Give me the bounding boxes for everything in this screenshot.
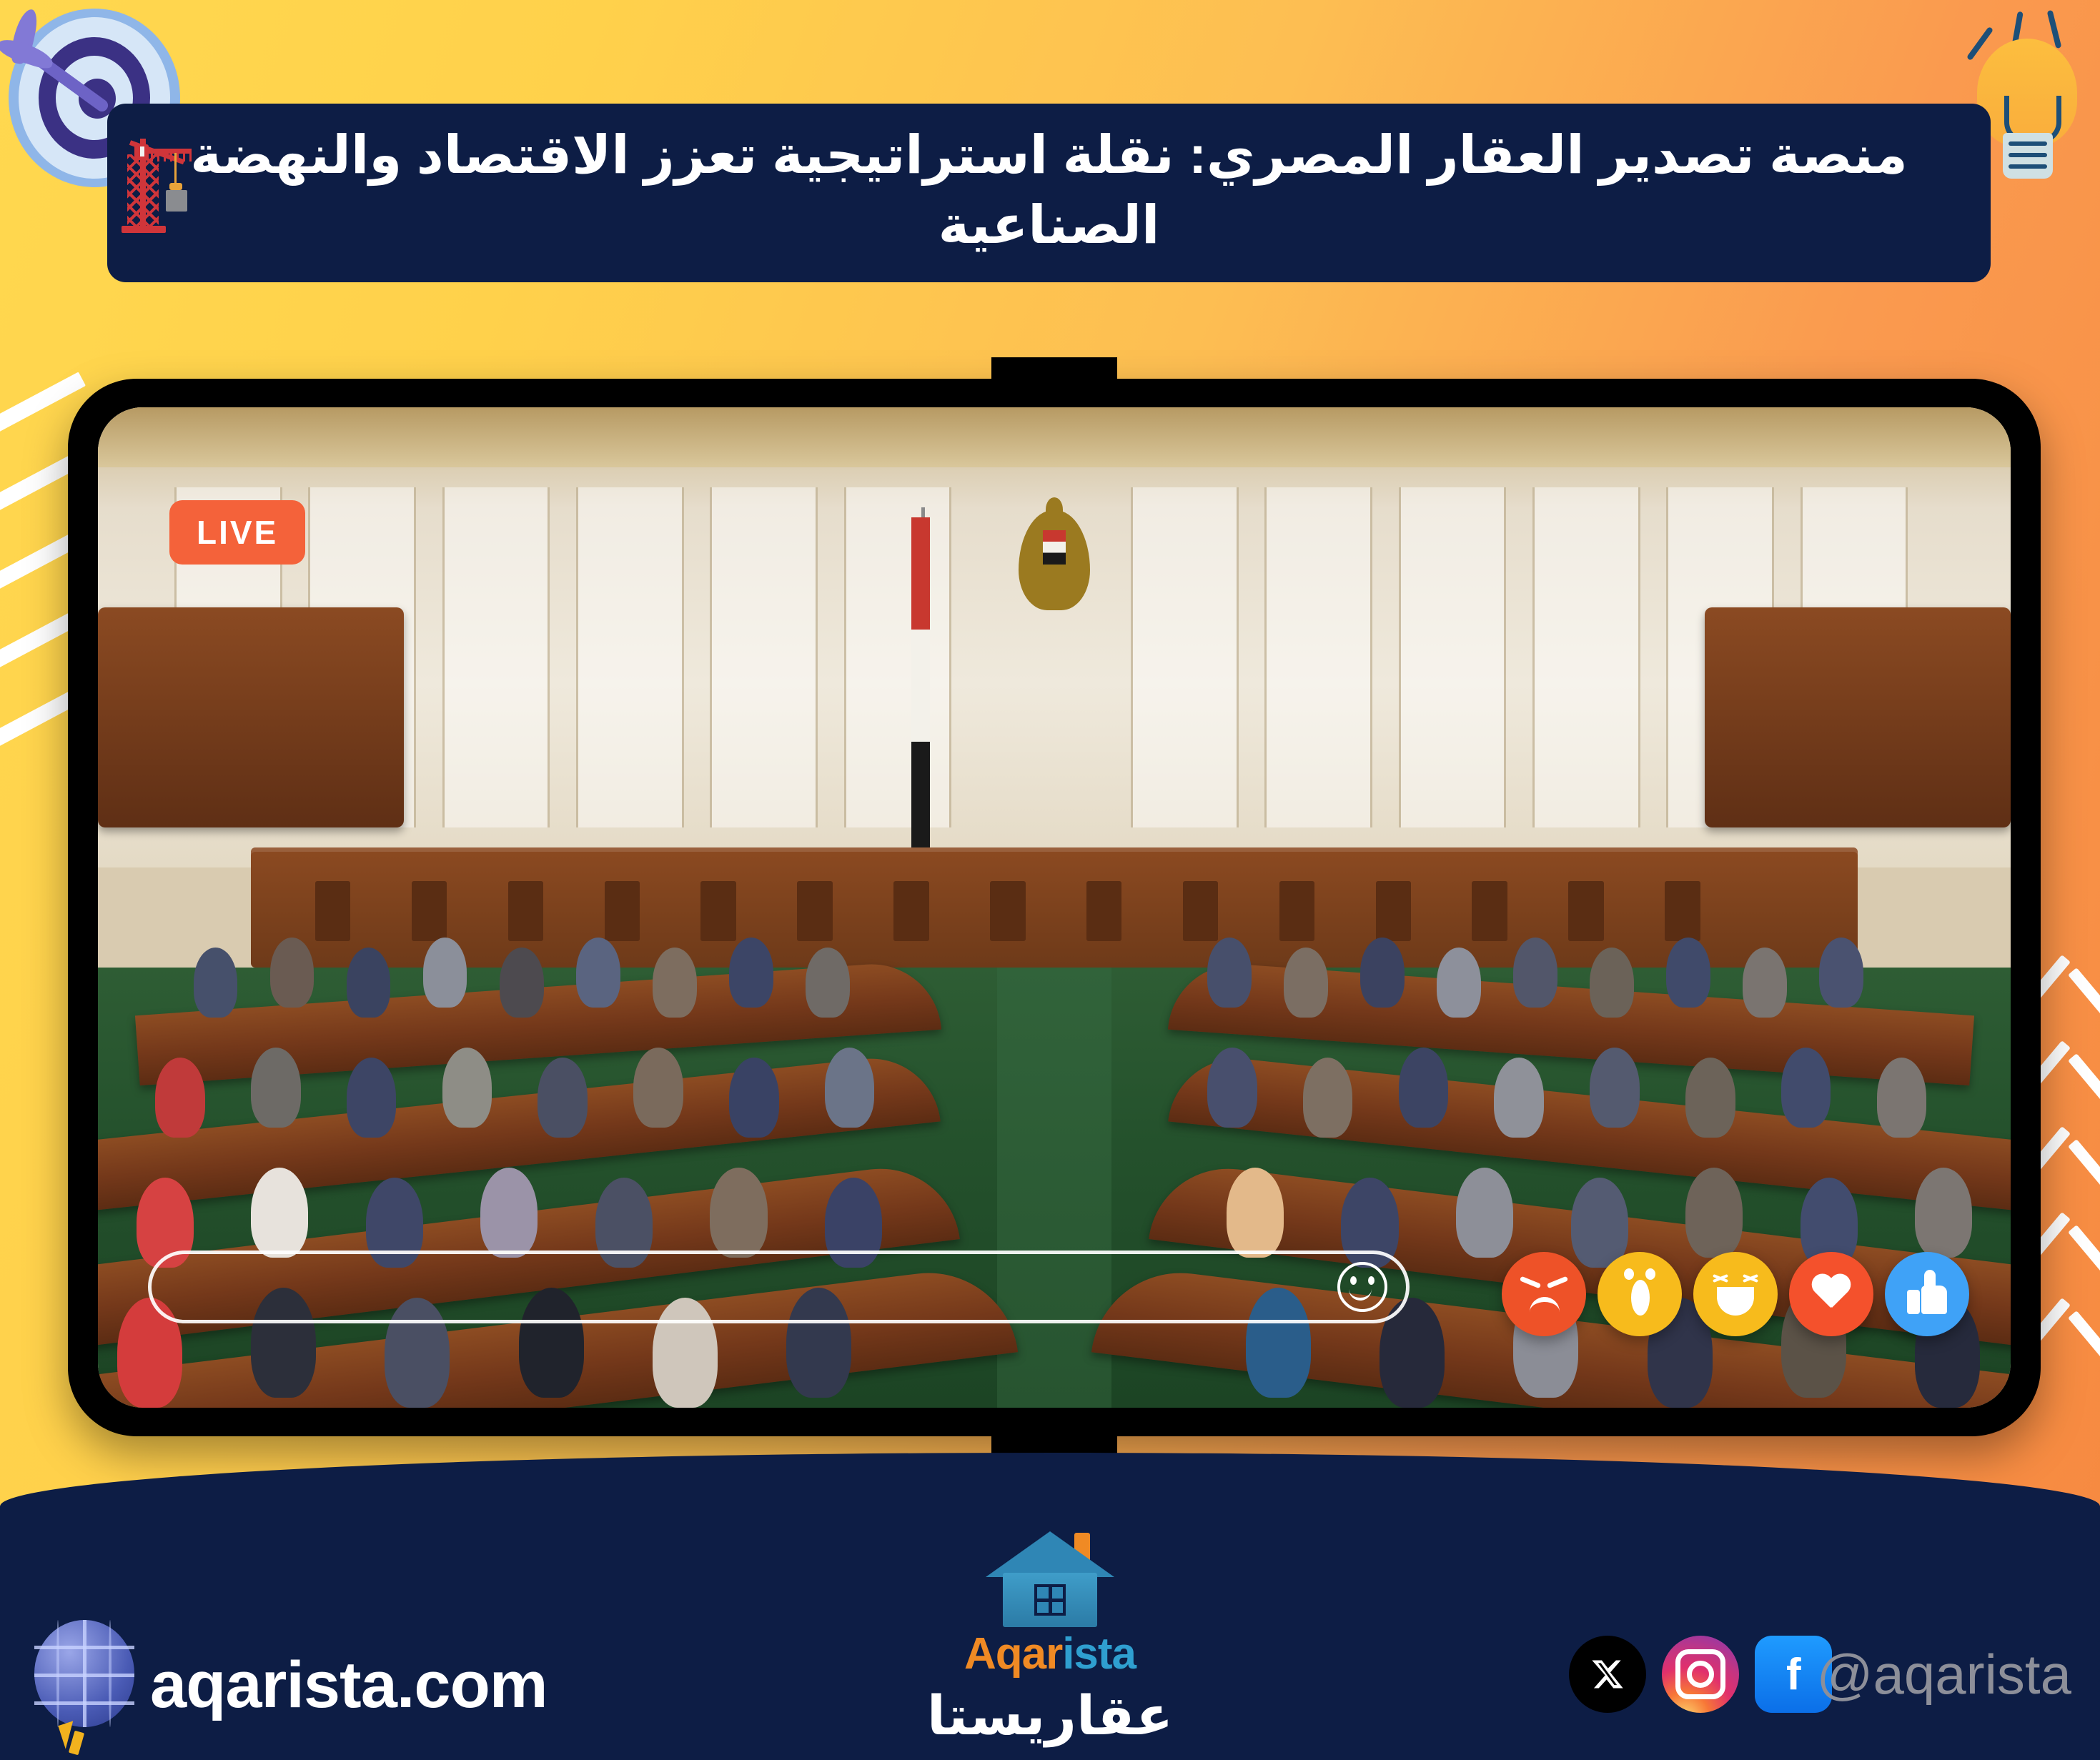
brand-wordmark: Aqarista: [821, 1629, 1279, 1679]
live-badge: LIVE: [169, 500, 305, 565]
brand-block: Aqarista عقاريستا: [821, 1531, 1279, 1747]
globe-cursor-icon: [34, 1620, 134, 1727]
construction-crane-icon: [109, 126, 194, 233]
social-handle[interactable]: @aqarista: [1816, 1642, 2071, 1707]
facebook-glyph: f: [1786, 1649, 1801, 1700]
comment-input[interactable]: [148, 1251, 1410, 1323]
angry-face-icon: [1514, 1264, 1574, 1324]
reaction-like[interactable]: [1885, 1252, 1969, 1336]
website-url[interactable]: aqarista.com: [150, 1648, 548, 1723]
headline-plate: منصة تصدير العقار المصري: نقلة استراتيجي…: [107, 104, 1991, 282]
reaction-bar[interactable]: [1502, 1252, 1969, 1336]
smiley-face-icon[interactable]: [1337, 1262, 1387, 1312]
brand-name-part2: ista: [1062, 1629, 1136, 1679]
brand-name-arabic: عقاريستا: [821, 1684, 1279, 1747]
reaction-haha[interactable]: [1693, 1252, 1778, 1336]
social-links[interactable]: f @aqarista: [1569, 1636, 2071, 1713]
instagram-icon[interactable]: [1662, 1636, 1739, 1713]
brand-name-part1: Aqar: [964, 1629, 1062, 1679]
phone-notch: [991, 357, 1117, 389]
footer-bar: aqarista.com Aqarista عقاريستا: [0, 1453, 2100, 1760]
house-logo-icon: [986, 1531, 1114, 1631]
phone-mockup: LIVE: [68, 379, 2041, 1436]
laughing-face-icon: [1705, 1264, 1765, 1324]
page-title: منصة تصدير العقار المصري: نقلة استراتيجي…: [172, 120, 1926, 259]
thumbs-up-icon: [1907, 1274, 1947, 1314]
reaction-angry[interactable]: [1502, 1252, 1586, 1336]
surprised-face-icon: [1610, 1264, 1670, 1324]
reaction-wow[interactable]: [1598, 1252, 1682, 1336]
x-icon[interactable]: [1569, 1636, 1646, 1713]
video-player[interactable]: LIVE: [98, 407, 2011, 1408]
poster-canvas: منصة تصدير العقار المصري: نقلة استراتيجي…: [0, 0, 2100, 1760]
reaction-love[interactable]: [1789, 1252, 1873, 1336]
heart-icon: [1811, 1275, 1852, 1313]
egypt-emblem-icon: [1011, 497, 1097, 640]
